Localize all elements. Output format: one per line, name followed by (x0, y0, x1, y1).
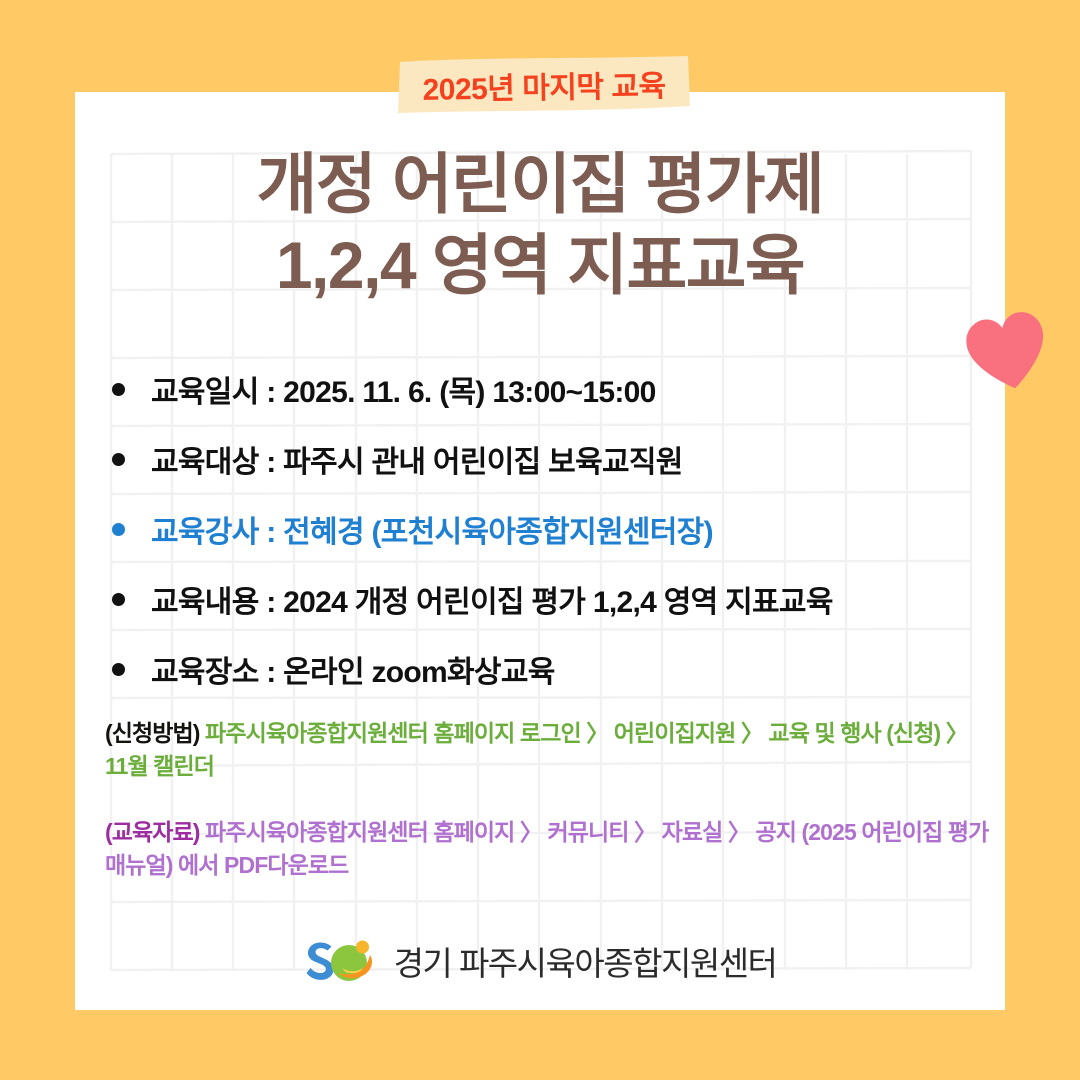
sc-center-logo-icon (304, 937, 382, 985)
organization-name: 경기 파주시육아종합지원센터 (394, 937, 777, 985)
note-materials: (교육자료) 파주시육아종합지원센터 홈페이지 〉 커뮤니티 〉 자료실 〉 공… (105, 816, 995, 881)
bullet-dot-icon (112, 383, 125, 396)
list-item: 교육대상 : 파주시 관내 어린이집 보육교직원 (112, 437, 992, 481)
list-item: 교육장소 : 온라인 zoom화상교육 (112, 647, 992, 691)
note-tag: (교육자료) (105, 819, 200, 845)
note-body: 파주시육아종합지원센터 홈페이지 로그인 〉 어린이집지원 〉 교육 및 행사 … (105, 720, 968, 779)
title-line-2: 1,2,4 영역 지표교육 (75, 225, 1005, 306)
note-application-method: (신청방법) 파주시육아종합지원센터 홈페이지 로그인 〉 어린이집지원 〉 교… (105, 717, 995, 782)
bullet-dot-icon (112, 663, 125, 676)
list-item-label: 교육강사 : 전혜경 (포천시육아종합지원센터장) (151, 507, 713, 551)
bullet-dot-icon (112, 453, 125, 466)
poster-card: 개정 어린이집 평가제 1,2,4 영역 지표교육 교육일시 : 2025. 1… (75, 92, 1005, 1010)
list-item-label: 교육일시 : 2025. 11. 6. (목) 13:00~15:00 (151, 367, 656, 411)
list-item: 교육일시 : 2025. 11. 6. (목) 13:00~15:00 (112, 367, 992, 411)
list-item: 교육내용 : 2024 개정 어린이집 평가 1,2,4 영역 지표교육 (112, 577, 992, 621)
banner-label: 2025년 마지막 교육 (396, 54, 693, 117)
details-list: 교육일시 : 2025. 11. 6. (목) 13:00~15:00 교육대상… (112, 367, 992, 717)
list-item-label: 교육장소 : 온라인 zoom화상교육 (151, 647, 555, 691)
bullet-dot-icon (112, 523, 125, 536)
page-title: 개정 어린이집 평가제 1,2,4 영역 지표교육 (75, 144, 1005, 305)
note-tag: (신청방법) (105, 720, 200, 746)
list-item-label: 교육대상 : 파주시 관내 어린이집 보육교직원 (151, 437, 683, 481)
title-line-1: 개정 어린이집 평가제 (75, 144, 1005, 225)
note-body: 파주시육아종합지원센터 홈페이지 〉 커뮤니티 〉 자료실 〉 공지 (2025… (105, 819, 988, 878)
list-item-label: 교육내용 : 2024 개정 어린이집 평가 1,2,4 영역 지표교육 (151, 577, 833, 621)
bullet-dot-icon (112, 593, 125, 606)
notes-section: (신청방법) 파주시육아종합지원센터 홈페이지 로그인 〉 어린이집지원 〉 교… (105, 717, 995, 916)
footer: 경기 파주시육아종합지원센터 (75, 937, 1005, 985)
top-banner: 2025년 마지막 교육 (396, 56, 692, 114)
list-item-instructor: 교육강사 : 전혜경 (포천시육아종합지원센터장) (112, 507, 992, 551)
heart-icon (962, 308, 1054, 400)
